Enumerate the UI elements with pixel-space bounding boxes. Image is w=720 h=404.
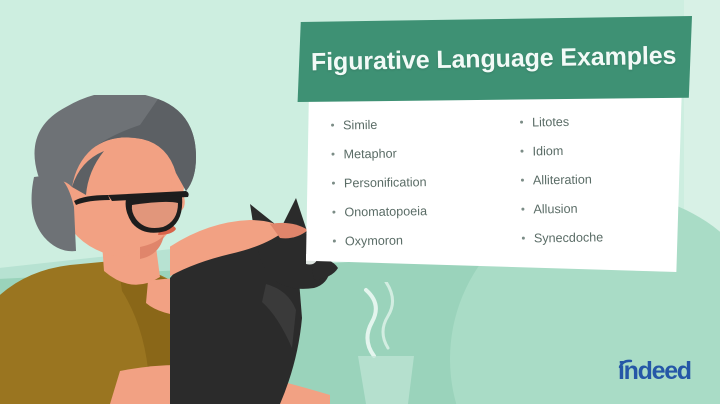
list-item: Allusion (521, 192, 662, 223)
bullet-icon (521, 179, 524, 182)
list-item: Litotes (520, 105, 661, 136)
list-item-label: Allusion (533, 201, 577, 216)
bullet-icon (521, 208, 524, 211)
card-header: Figurative Language Examples (296, 16, 692, 102)
bullet-icon (332, 182, 335, 185)
page-title: Figurative Language Examples (311, 41, 677, 77)
bullet-icon (332, 211, 335, 214)
glass-illustration (352, 282, 462, 404)
bullet-icon (520, 121, 523, 124)
indeed-logo: indeed (618, 359, 700, 387)
list-item: Metaphor (331, 137, 496, 169)
list-column-right: Litotes Idiom Alliteration Allusion Syne… (496, 105, 663, 258)
bullet-icon (333, 240, 336, 243)
glass-shape (358, 356, 414, 404)
list-item-label: Oxymoron (345, 233, 403, 248)
list-item-label: Idiom (532, 143, 563, 157)
list-item: Alliteration (521, 163, 662, 194)
list-item: Simile (331, 108, 496, 140)
list-item: Personification (332, 166, 497, 198)
list-item-label: Metaphor (343, 146, 396, 161)
list-item-label: Alliteration (533, 172, 592, 187)
bullet-icon (331, 124, 334, 127)
list-item-label: Personification (344, 175, 427, 190)
bullet-icon (332, 153, 335, 156)
list-item-label: Litotes (532, 114, 569, 129)
content-card: Figurative Language Examples Simile Meta… (296, 16, 692, 272)
indeed-wordmark: indeed (618, 357, 691, 385)
examples-list: Simile Metaphor Personification Onomatop… (331, 105, 663, 260)
bullet-icon (520, 150, 523, 153)
list-item-label: Simile (343, 117, 378, 132)
list-item: Oxymoron (333, 224, 498, 256)
list-item-label: Onomatopoeia (344, 204, 427, 219)
list-item: Synecdoche (522, 221, 663, 252)
list-item-label: Synecdoche (534, 230, 604, 245)
infographic-canvas: Figurative Language Examples Simile Meta… (0, 0, 720, 404)
list-item: Onomatopoeia (332, 195, 497, 227)
list-column-left: Simile Metaphor Personification Onomatop… (331, 108, 498, 261)
list-item: Idiom (520, 134, 661, 165)
steam-wisp-1 (366, 290, 376, 356)
glass-svg (352, 282, 462, 404)
steam-wisp-2 (383, 282, 393, 348)
bullet-icon (522, 237, 525, 240)
